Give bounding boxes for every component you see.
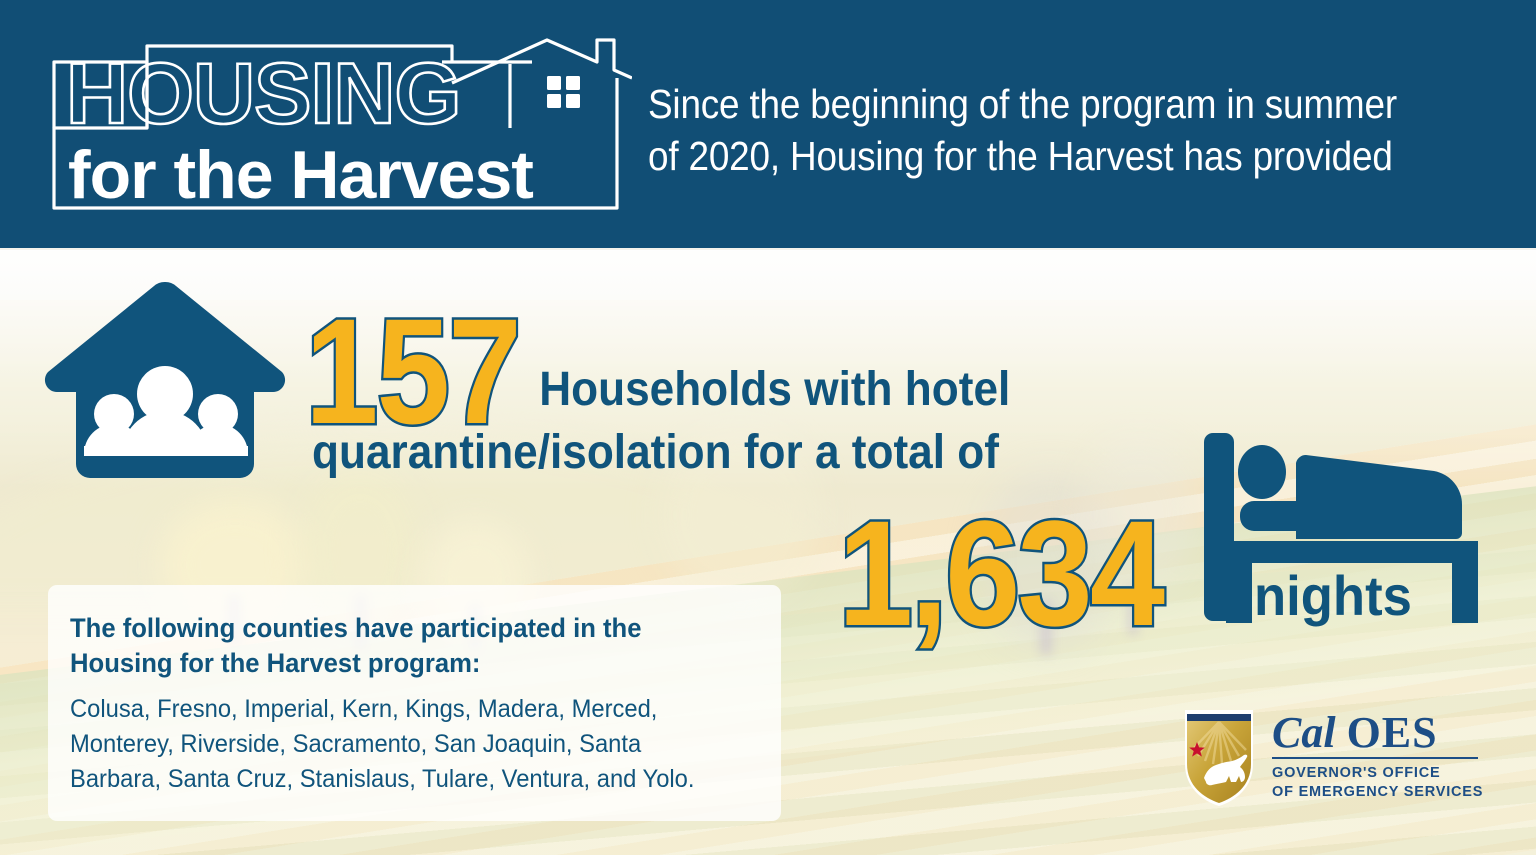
cal-oes-logo: Cal OES GOVERNOR'S OFFICE OF EMERGENCY S… [1182,701,1494,811]
logo-line2-text: for the Harvest [68,137,533,213]
cal-oes-subtitle-line2: OF EMERGENCY SERVICES [1272,783,1494,802]
infographic-canvas: HOUSING for the Harvest Since the beginn… [0,0,1536,855]
counties-heading: The following counties have participated… [70,611,721,680]
cal-oes-wordmark: Cal OES GOVERNOR'S OFFICE OF EMERGENCY S… [1272,711,1494,802]
california-bear-shield-icon [1182,706,1256,806]
cal-oes-brand-oes: OES [1347,708,1438,757]
households-description-line2: quarantine/isolation for a total of [312,421,1158,484]
cal-oes-divider [1272,757,1478,759]
counties-list: Colusa, Fresno, Imperial, Kern, Kings, M… [70,692,721,797]
house-outline-icon: HOUSING for the Harvest [42,28,632,220]
counties-panel: The following counties have participated… [48,585,781,821]
shield-top-bar [1187,714,1251,721]
nights-label: nights [1254,563,1412,628]
bed-leg-right [1452,541,1478,623]
households-description-line1: Households with hotel [539,358,1158,421]
nights-count: 1,634 [838,498,1162,648]
header-banner: HOUSING for the Harvest Since the beginn… [0,0,1536,248]
bed-rail [1226,541,1476,563]
households-description: Households with hotel quarantine/isolati… [312,358,1158,485]
main-content: 157 Households with hotel quarantine/iso… [0,248,1536,855]
blanket [1296,455,1462,539]
program-logo: HOUSING for the Harvest [42,28,632,220]
window-panes [547,76,580,108]
logo-line1-text: HOUSING [66,46,460,142]
header-intro-text: Since the beginning of the program in su… [648,78,1422,183]
cal-oes-brand-cal: Cal [1272,708,1336,757]
cal-oes-subtitle-line1: GOVERNOR'S OFFICE [1272,764,1494,783]
sleeper-head [1238,445,1286,499]
house-with-family-icon [42,268,288,498]
cal-oes-title: Cal OES [1272,711,1494,754]
bed-leg-left [1226,541,1252,623]
